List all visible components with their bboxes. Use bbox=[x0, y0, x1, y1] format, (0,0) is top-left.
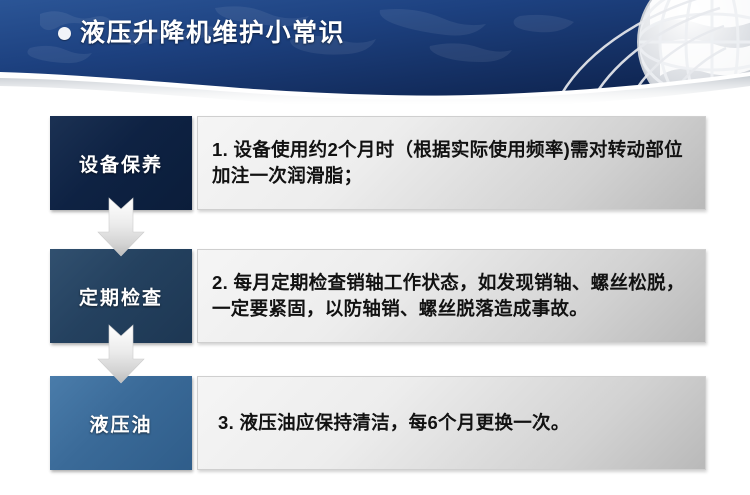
description-text: 2. 每月定期检查销轴工作状态，如发现销轴、螺丝松脱，一定要紧固，以防轴销、螺丝… bbox=[212, 270, 691, 323]
description-text: 1. 设备使用约2个月时（根据实际使用频率)需对转动部位加注一次润滑脂； bbox=[212, 137, 691, 190]
description-panel: 3. 液压油应保持清洁，每6个月更换一次。 bbox=[197, 376, 706, 470]
content-area: 设备保养 1. 设备使用约2个月时（根据实际使用频率)需对转动部位加注一次润滑脂… bbox=[0, 104, 750, 495]
category-box-hydraulic-oil[interactable]: 液压油 bbox=[50, 376, 192, 470]
page-title-text: 液压升降机维护小常识 bbox=[80, 21, 345, 46]
description-text: 3. 液压油应保持清洁，每6个月更换一次。 bbox=[212, 410, 570, 436]
maintenance-row: 液压油 3. 液压油应保持清洁，每6个月更换一次。 bbox=[0, 376, 750, 474]
header-background bbox=[0, 0, 750, 104]
description-panel: 1. 设备使用约2个月时（根据实际使用频率)需对转动部位加注一次润滑脂； bbox=[197, 116, 706, 210]
page-title: 液压升降机维护小常识 bbox=[58, 21, 345, 46]
page-header: 液压升降机维护小常识 bbox=[0, 0, 750, 104]
down-arrow-icon bbox=[97, 323, 145, 385]
category-label: 液压油 bbox=[89, 410, 152, 437]
category-label: 定期检查 bbox=[79, 283, 163, 310]
down-arrow-icon bbox=[97, 196, 145, 258]
category-label: 设备保养 bbox=[79, 150, 163, 177]
description-panel: 2. 每月定期检查销轴工作状态，如发现销轴、螺丝松脱，一定要紧固，以防轴销、螺丝… bbox=[197, 249, 706, 343]
bullet-dot-icon bbox=[58, 27, 71, 40]
